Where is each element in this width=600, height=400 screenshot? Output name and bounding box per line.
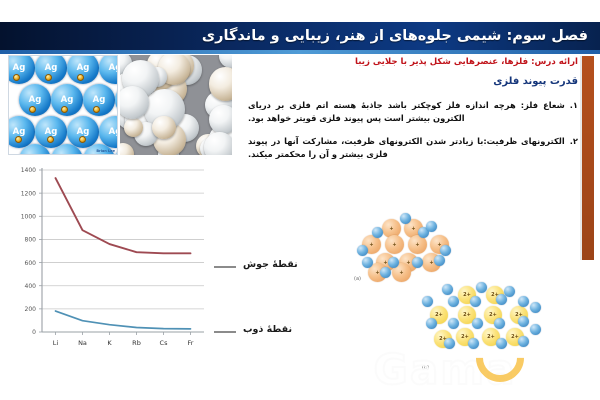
slide-title-bar: فصل سوم: شیمی جلوه‌های از هنر، زیبایی و … [0,22,600,50]
y-tick-label: 400 [25,283,37,290]
silver-lattice-image: AgAgAgAgAgAgAgAgAgAgAgAgAgAgAgAg Brian L… [8,55,118,155]
x-tick-label: Fr [188,339,194,347]
delocalized-electron [426,221,437,232]
y-tick-label: 600 [25,260,37,267]
x-tick-label: Rb [132,339,141,347]
delocalized-electron [412,257,423,268]
free-electron [79,136,86,143]
y-tick-label: 1200 [21,190,36,197]
free-electron [15,136,22,143]
metal-sphere [209,105,232,134]
free-electron [45,74,52,81]
bullet-text: شعاع فلز: هرچه اندازه فلز کوچکتر باشد جا… [248,99,565,126]
delocalized-electron [518,296,529,307]
bullet-number: ۲. [570,135,578,162]
delocalized-electron [470,296,481,307]
title-underline-strip [0,50,600,54]
melting-legend-dash [214,331,236,333]
silver-atom: Ag [35,116,67,148]
metal-sphere [152,116,175,139]
diagram-b-electron-sea: (b) 2+2+2+2+2+2+2+2+2+2+ [418,280,568,372]
delocalized-electron [496,338,507,349]
bullet-item-1: ۱. شعاع فلز: هرچه اندازه فلز کوچکتر باشد… [248,99,578,126]
y-tick-label: 200 [25,306,37,313]
delocalized-electron [372,227,383,238]
metal-sphere [124,118,143,137]
boiling-point-label: نقطهٔ جوش [243,259,298,270]
metal-spheres-image [120,55,232,155]
diagram-a-electron-sea: (a) +++++++++++ [352,205,470,283]
free-electron [93,106,100,113]
silver-atom: Ag [99,55,118,84]
diagram-a-caption: (a) [354,276,361,282]
delocalized-electron [496,294,507,305]
delocalized-electron [440,245,451,256]
metal-sphere [120,143,134,155]
lesson-intro-heading: ارائه درس: فلزها، عنصرهایی شکل پذیر با ج… [248,56,578,69]
silver-atom: Ag [115,84,118,116]
delocalized-electron [494,318,505,329]
x-tick-label: Cs [160,339,169,347]
delocalized-electron [518,316,529,327]
boiling-legend-dash [214,266,236,268]
bullet-text: الکترونهای ظرفیت:با زیادتر شدن الکترونها… [248,135,565,162]
delocalized-electron [442,284,453,295]
image-credit: Brian Lee [96,149,115,153]
series-line-boiling [56,178,191,253]
delocalized-electron [468,338,479,349]
delocalized-electron [518,336,529,347]
melting-boiling-point-chart: 0200400600800100012001400LiNaKRbCsFr [8,160,208,360]
diagram-b-caption: (b) [422,365,429,371]
lesson-text-column: ارائه درس: فلزها، عنصرهایی شکل پذیر با ج… [248,56,578,171]
delocalized-electron [530,302,541,313]
y-tick-label: 1000 [21,213,36,220]
bullet-number: ۱. [570,99,578,126]
delocalized-electron [472,318,483,329]
delocalized-electron [448,318,459,329]
delocalized-electron [476,282,487,293]
free-electron [13,74,20,81]
bullet-item-2: ۲. الکترونهای ظرفیت:با زیادتر شدن الکترو… [248,135,578,162]
ag-lattice-grid: AgAgAgAgAgAgAgAgAgAgAgAgAgAgAgAg [9,56,117,154]
x-tick-label: Na [78,339,87,347]
top-white-strip [0,0,600,22]
silver-atom: Ag [8,55,35,84]
delocalized-electron [422,296,433,307]
delocalized-electron [448,296,459,307]
delocalized-electron [426,318,437,329]
slide-canvas: فصل سوم: شیمی جلوه‌های از هنر، زیبایی و … [0,0,600,400]
free-electron [61,106,68,113]
delocalized-electron [362,257,373,268]
delocalized-electron [444,338,455,349]
delocalized-electron [434,255,445,266]
y-tick-label: 1400 [21,167,36,174]
silver-atom: Ag [99,116,118,148]
y-tick-label: 800 [25,237,37,244]
section-subtitle: قدرت پیوند فلزی [248,75,578,89]
x-tick-label: K [107,339,112,347]
delocalized-electron [530,324,541,335]
metal-cation: + [385,235,404,254]
silver-atom: Ag [8,116,35,148]
y-tick-label: 0 [32,329,36,336]
metal-sphere [219,55,232,68]
melting-point-label: نقطهٔ ذوب [243,324,292,335]
silver-atom: Ag [67,116,99,148]
free-electron [29,106,36,113]
delocalized-electron [380,267,391,278]
delocalized-electron [357,245,368,256]
chart-svg: 0200400600800100012001400LiNaKRbCsFr [8,160,208,360]
free-electron [77,74,84,81]
right-accent-bar [582,56,594,260]
page-title: فصل سوم: شیمی جلوه‌های از هنر، زیبایی و … [202,28,588,44]
metal-sphere [204,132,232,155]
delocalized-electron [388,257,399,268]
series-line-melting [56,311,191,329]
free-electron [47,136,54,143]
delocalized-electron [400,213,411,224]
x-tick-label: Li [53,339,59,347]
